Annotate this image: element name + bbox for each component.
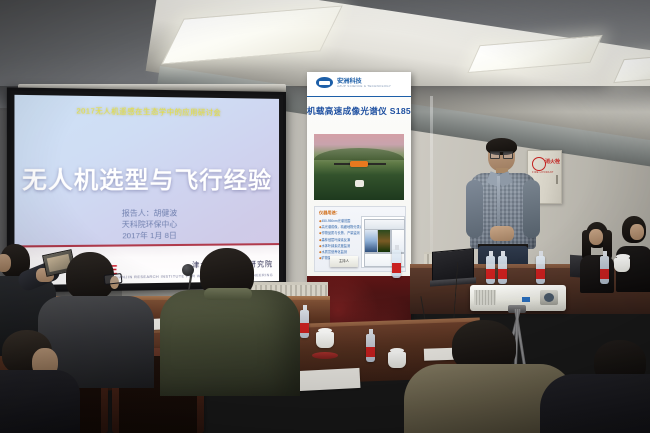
projector-lens	[540, 290, 558, 305]
person-body	[540, 374, 650, 433]
fire-cabinet-label-cn: 消火栓	[545, 158, 560, 165]
screenshot-image-1	[364, 229, 378, 253]
banner-bullet: 作物品质与长势、产量监测	[319, 230, 359, 236]
cabinet-handle	[556, 175, 558, 184]
tea-mug	[614, 258, 630, 272]
wall-corner-edge	[430, 96, 433, 276]
banner-bullet-list: 450-950nm光谱范围 高光谱成像，精细地物分类识别 作物品质与长势、产量监…	[319, 218, 359, 261]
water-bottle	[600, 256, 609, 284]
water-bottle	[366, 334, 375, 362]
tea-mug	[316, 332, 334, 348]
water-bottle	[498, 256, 507, 284]
person-face	[630, 224, 644, 240]
water-bottle	[536, 256, 545, 284]
screenshot-image-2	[377, 229, 391, 253]
name-card: 主持人	[330, 256, 358, 267]
banner-spec-heading: 仪器用途：	[319, 210, 340, 216]
photo-drone-payload	[355, 180, 364, 187]
audience-person-front-left	[0, 330, 68, 433]
presenter-glasses	[490, 151, 513, 157]
person-body	[160, 290, 300, 396]
banner-drone-photo	[314, 134, 404, 200]
water-bottle	[486, 256, 495, 284]
presenter-hands	[490, 226, 514, 241]
photo-drone-body	[350, 161, 368, 167]
projector-vent	[474, 290, 496, 305]
photo-hill	[314, 148, 404, 160]
audience-person-olive-jacket	[160, 248, 300, 394]
water-bottle	[300, 310, 309, 338]
presenter-arm-right	[523, 180, 540, 238]
saucer-plate	[312, 352, 338, 359]
person-body	[0, 370, 80, 433]
person-face	[589, 229, 603, 245]
slide-header-text: 2017无人机遥感在生态学中的应用研讨会	[14, 105, 279, 119]
presenter-arm-left	[466, 180, 483, 238]
audience-person-dark-jacket	[540, 352, 650, 433]
projector-label	[522, 297, 530, 302]
banner-header: 安洲科技 AZUP SCIENCE & TECHNOLOGY	[307, 72, 411, 97]
audience-person	[618, 216, 650, 290]
banner-brand-en: AZUP SCIENCE & TECHNOLOGY	[337, 84, 391, 88]
water-bottle	[392, 250, 401, 278]
banner-product-title: 机载高速成像光谱仪 S185	[307, 105, 411, 117]
screenshot-toolbar	[364, 219, 405, 230]
eyeglasses	[104, 273, 123, 285]
azup-logo-icon	[316, 77, 333, 88]
jacket-collar	[204, 288, 252, 300]
audience-person-glasses	[54, 252, 154, 382]
conference-room-photo: 消火栓 FIRE HYDRANT 2017无人机遥感在生态学中的应用研讨会 无人…	[0, 0, 650, 433]
slide-title-text: 无人机选型与飞行经验	[14, 160, 279, 196]
